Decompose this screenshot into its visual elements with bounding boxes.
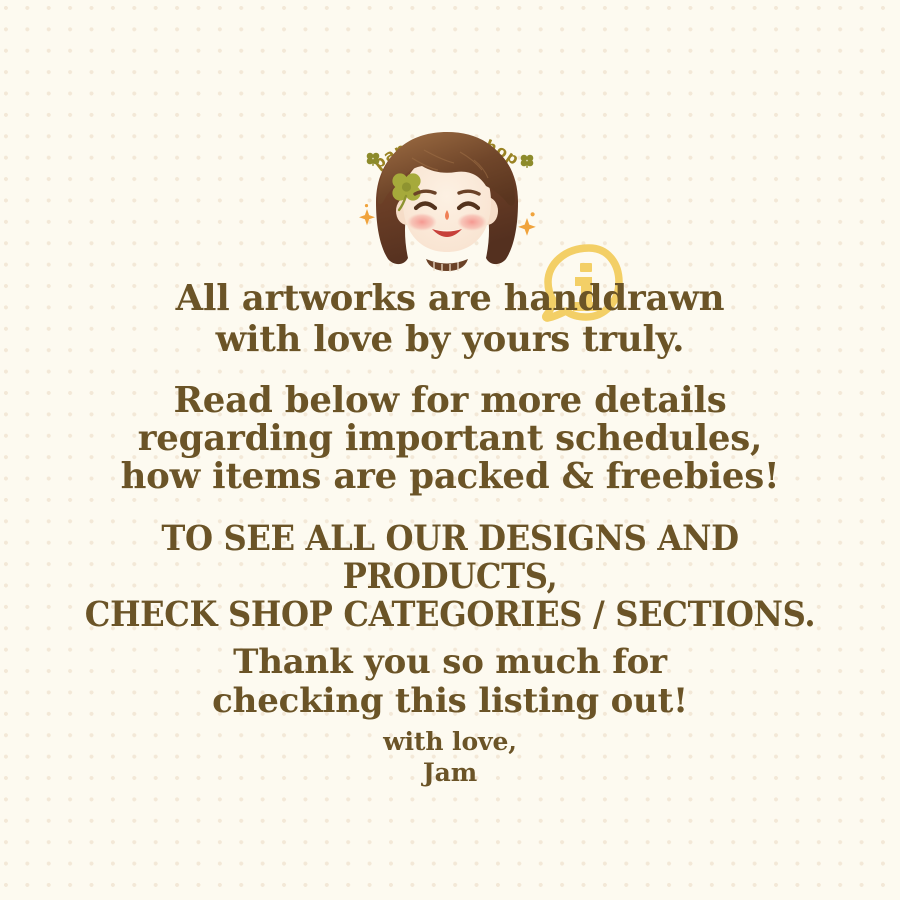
intro-paragraph: All artworks are handdrawn with love by … (0, 278, 900, 360)
read-below-line-2: regarding important schedules, (0, 420, 900, 458)
intro-line-1: All artworks are handdrawn (0, 278, 900, 319)
thanks-paragraph: Thank you so much for checking this list… (0, 643, 900, 721)
signature-line-1: with love, (0, 726, 900, 757)
thanks-line-1: Thank you so much for (0, 643, 900, 682)
signature-paragraph: with love, Jam (0, 726, 900, 788)
read-below-line-1: Read below for more details (0, 382, 900, 420)
categories-notice-line-3: CHECK SHOP CATEGORIES / SECTIONS. (36, 596, 864, 634)
avatar (352, 128, 542, 278)
categories-notice-line-2: PRODUCTS, (36, 558, 864, 596)
categories-notice-paragraph: TO SEE ALL OUR DESIGNS AND PRODUCTS, CHE… (36, 520, 864, 634)
categories-notice-line-1: TO SEE ALL OUR DESIGNS AND (36, 520, 864, 558)
avatar-collar (426, 259, 468, 271)
announcement-canvas: papervaicashop (0, 0, 900, 900)
intro-line-2: with love by yours truly. (0, 319, 900, 360)
message-body: All artworks are handdrawn with love by … (0, 278, 900, 788)
signature-line-2: Jam (0, 757, 900, 788)
read-below-paragraph: Read below for more details regarding im… (0, 382, 900, 496)
thanks-line-2: checking this listing out! (0, 682, 900, 721)
avatar-blush-right (457, 213, 487, 231)
read-below-line-3: how items are packed & freebies! (0, 458, 900, 496)
logo-header: papervaicashop (0, 112, 900, 277)
avatar-blush-left (407, 213, 437, 231)
